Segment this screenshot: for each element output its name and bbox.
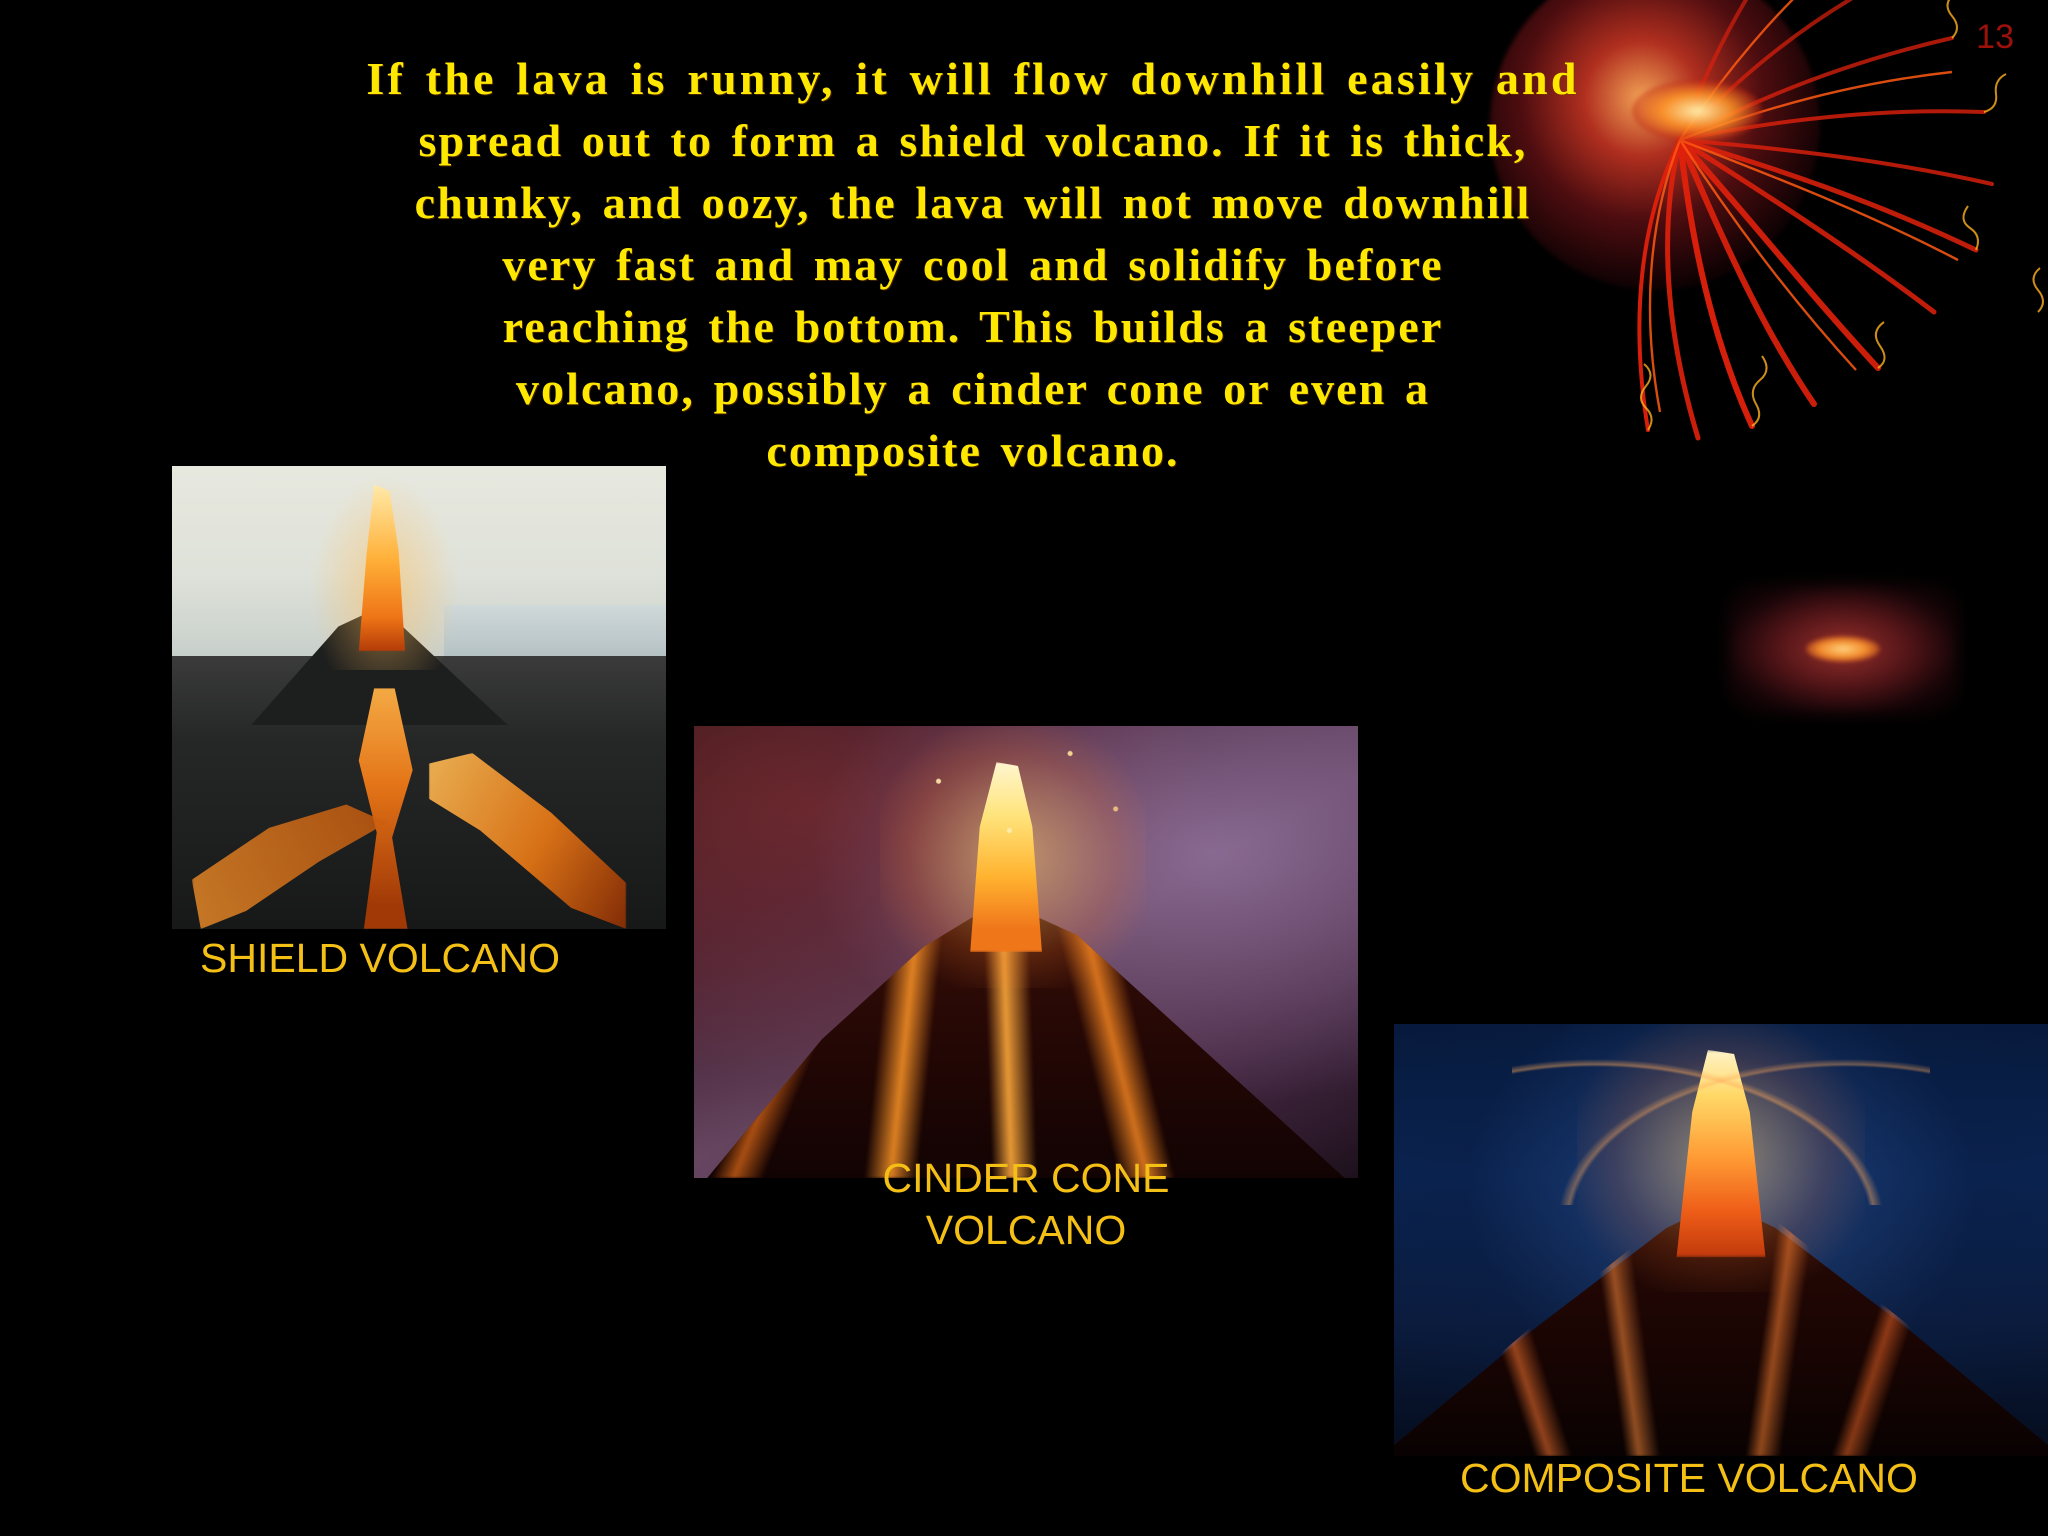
slide-body-paragraph: If the lava is runny, it will flow downh… [78, 48, 1868, 482]
photo-cinder-cone-volcano [694, 726, 1358, 1178]
caption-shield-volcano: SHIELD VOLCANO [200, 932, 560, 984]
paragraph-line: composite volcano. [78, 420, 1868, 482]
caption-line: CINDER CONE [694, 1152, 1358, 1204]
caption-line: VOLCANO [694, 1204, 1358, 1256]
ember-glow-graphic [1728, 584, 1958, 714]
paragraph-line: spread out to form a shield volcano. If … [78, 110, 1868, 172]
photo-composite-volcano [1394, 1024, 2048, 1456]
paragraph-line: very fast and may cool and solidify befo… [78, 234, 1868, 296]
paragraph-line: chunky, and oozy, the lava will not move… [78, 172, 1868, 234]
composite-ejecta-arcs [1512, 1033, 1931, 1206]
presentation-slide: 13 If the lava is runny, it will flow do… [0, 0, 2048, 1536]
photo-shield-volcano [172, 466, 666, 929]
cinder-sparks [893, 735, 1145, 889]
paragraph-line: volcano, possibly a cinder cone or even … [78, 358, 1868, 420]
paragraph-line: reaching the bottom. This builds a steep… [78, 296, 1868, 358]
ember-core-glow [1806, 636, 1880, 662]
paragraph-line: If the lava is runny, it will flow downh… [78, 48, 1868, 110]
caption-cinder-cone-volcano: CINDER CONE VOLCANO [694, 1152, 1358, 1256]
slide-page-number: 13 [1976, 18, 2014, 57]
caption-composite-volcano: COMPOSITE VOLCANO [1460, 1452, 1918, 1504]
